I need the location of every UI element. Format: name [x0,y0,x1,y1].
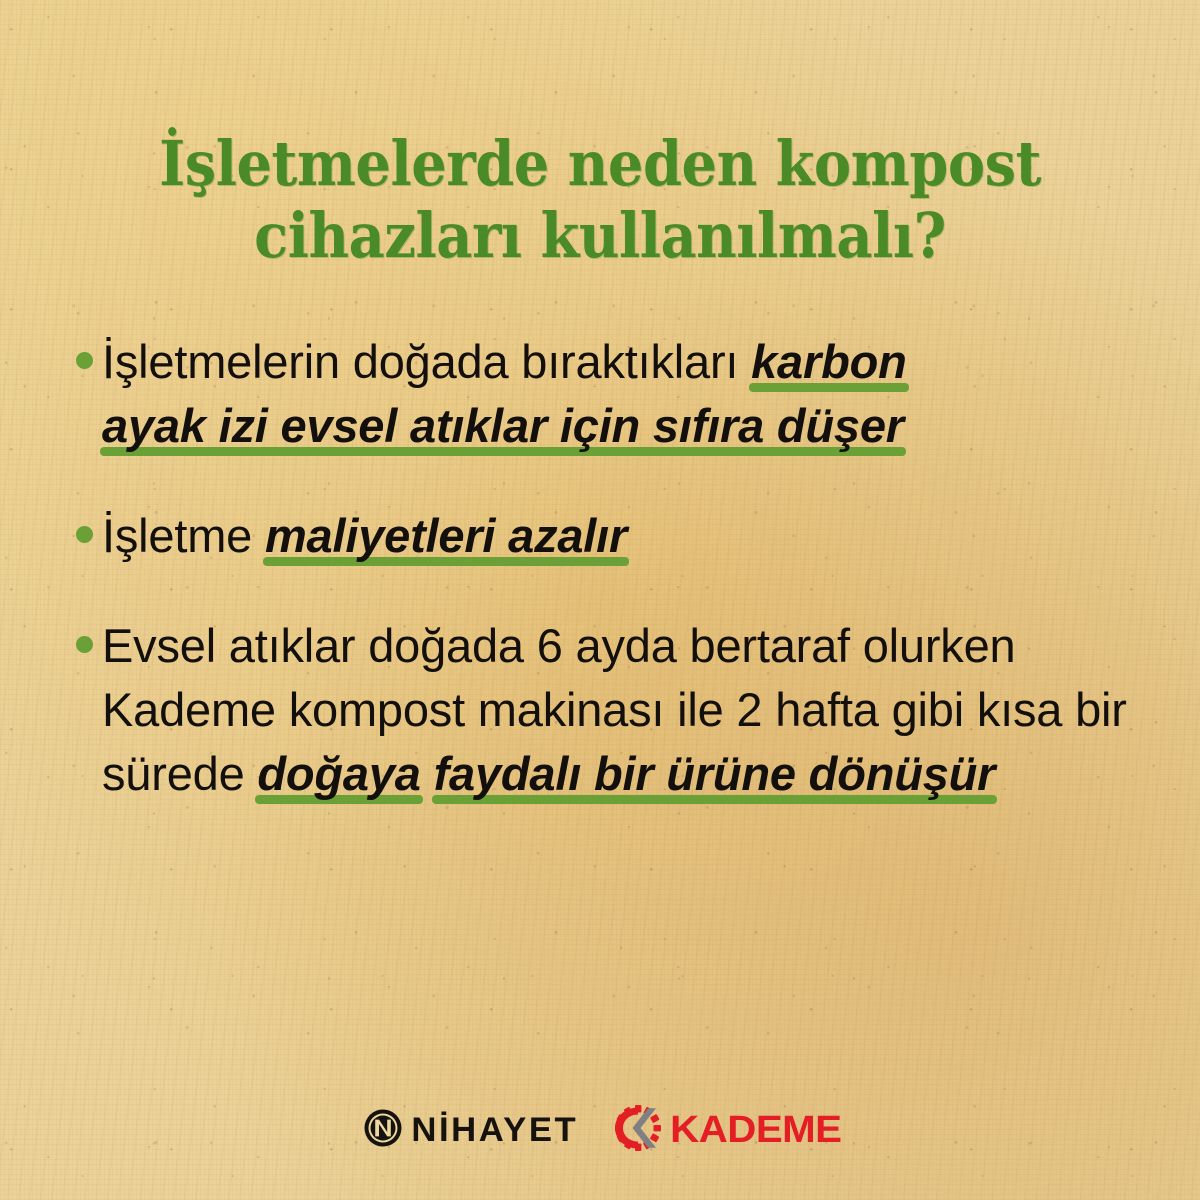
plain-phrase: İşletmelerin doğada bıraktıkları [102,335,751,388]
bullet-dot-icon [76,636,93,653]
kademe-gear-chevron-icon [611,1105,665,1156]
logo-nihayet: NİHAYET [363,1108,577,1153]
bullet-cost-reduction: İşletme maliyetleri azalır [70,504,1130,568]
poster-content: İşletmelerde neden kompost cihazları kul… [0,0,1200,1200]
bullet-text: İşletmelerin doğada bıraktıkları karbon … [102,330,1130,458]
plain-phrase [421,747,434,800]
emphasised-phrase-text: maliyetleri azalır [265,509,627,562]
emphasised-phrase: karbon [751,330,907,394]
page-title: İşletmelerde neden kompost cihazları kul… [0,128,1200,272]
plain-phrase: İşletme [102,509,265,562]
emphasised-phrase-text: doğaya [257,747,420,800]
benefits-list: İşletmelerin doğada bıraktıkları karbon … [70,330,1130,806]
bullet-dot-icon [76,526,93,543]
emphasised-phrase-text: faydalı bir ürüne dönüşür [434,747,996,800]
logo-kademe: KADEME [611,1105,837,1156]
emphasised-phrase: doğaya [257,742,420,806]
nihayet-wordmark: NİHAYET [412,1111,579,1150]
bullet-decomposition-time: Evsel atıklar doğada 6 ayda bertaraf olu… [70,614,1130,806]
kademe-wordmark: KADEME [670,1109,841,1152]
poster-canvas: İşletmelerde neden kompost cihazları kul… [0,0,1200,1200]
emphasised-phrase-text: ayak izi evsel atıklar için sıfıra düşer [102,399,904,452]
bullet-carbon-footprint: İşletmelerin doğada bıraktıkları karbon … [70,330,1130,458]
emphasised-phrase: maliyetleri azalır [265,504,627,568]
bullet-text: İşletme maliyetleri azalır [102,504,1130,568]
emphasised-phrase: faydalı bir ürüne dönüşür [434,742,996,806]
emphasised-phrase-text: karbon [751,335,907,388]
nihayet-monogram-icon [363,1108,403,1153]
bullet-dot-icon [76,352,93,369]
title-line-2: cihazları kullanılmalı? [123,200,1077,272]
emphasised-phrase: ayak izi evsel atıklar için sıfıra düşer [102,394,904,458]
footer-logos: NİHAYET [0,1105,1200,1156]
title-line-1: İşletmelerde neden kompost [123,128,1077,200]
bullet-text: Evsel atıklar doğada 6 ayda bertaraf olu… [102,614,1130,806]
